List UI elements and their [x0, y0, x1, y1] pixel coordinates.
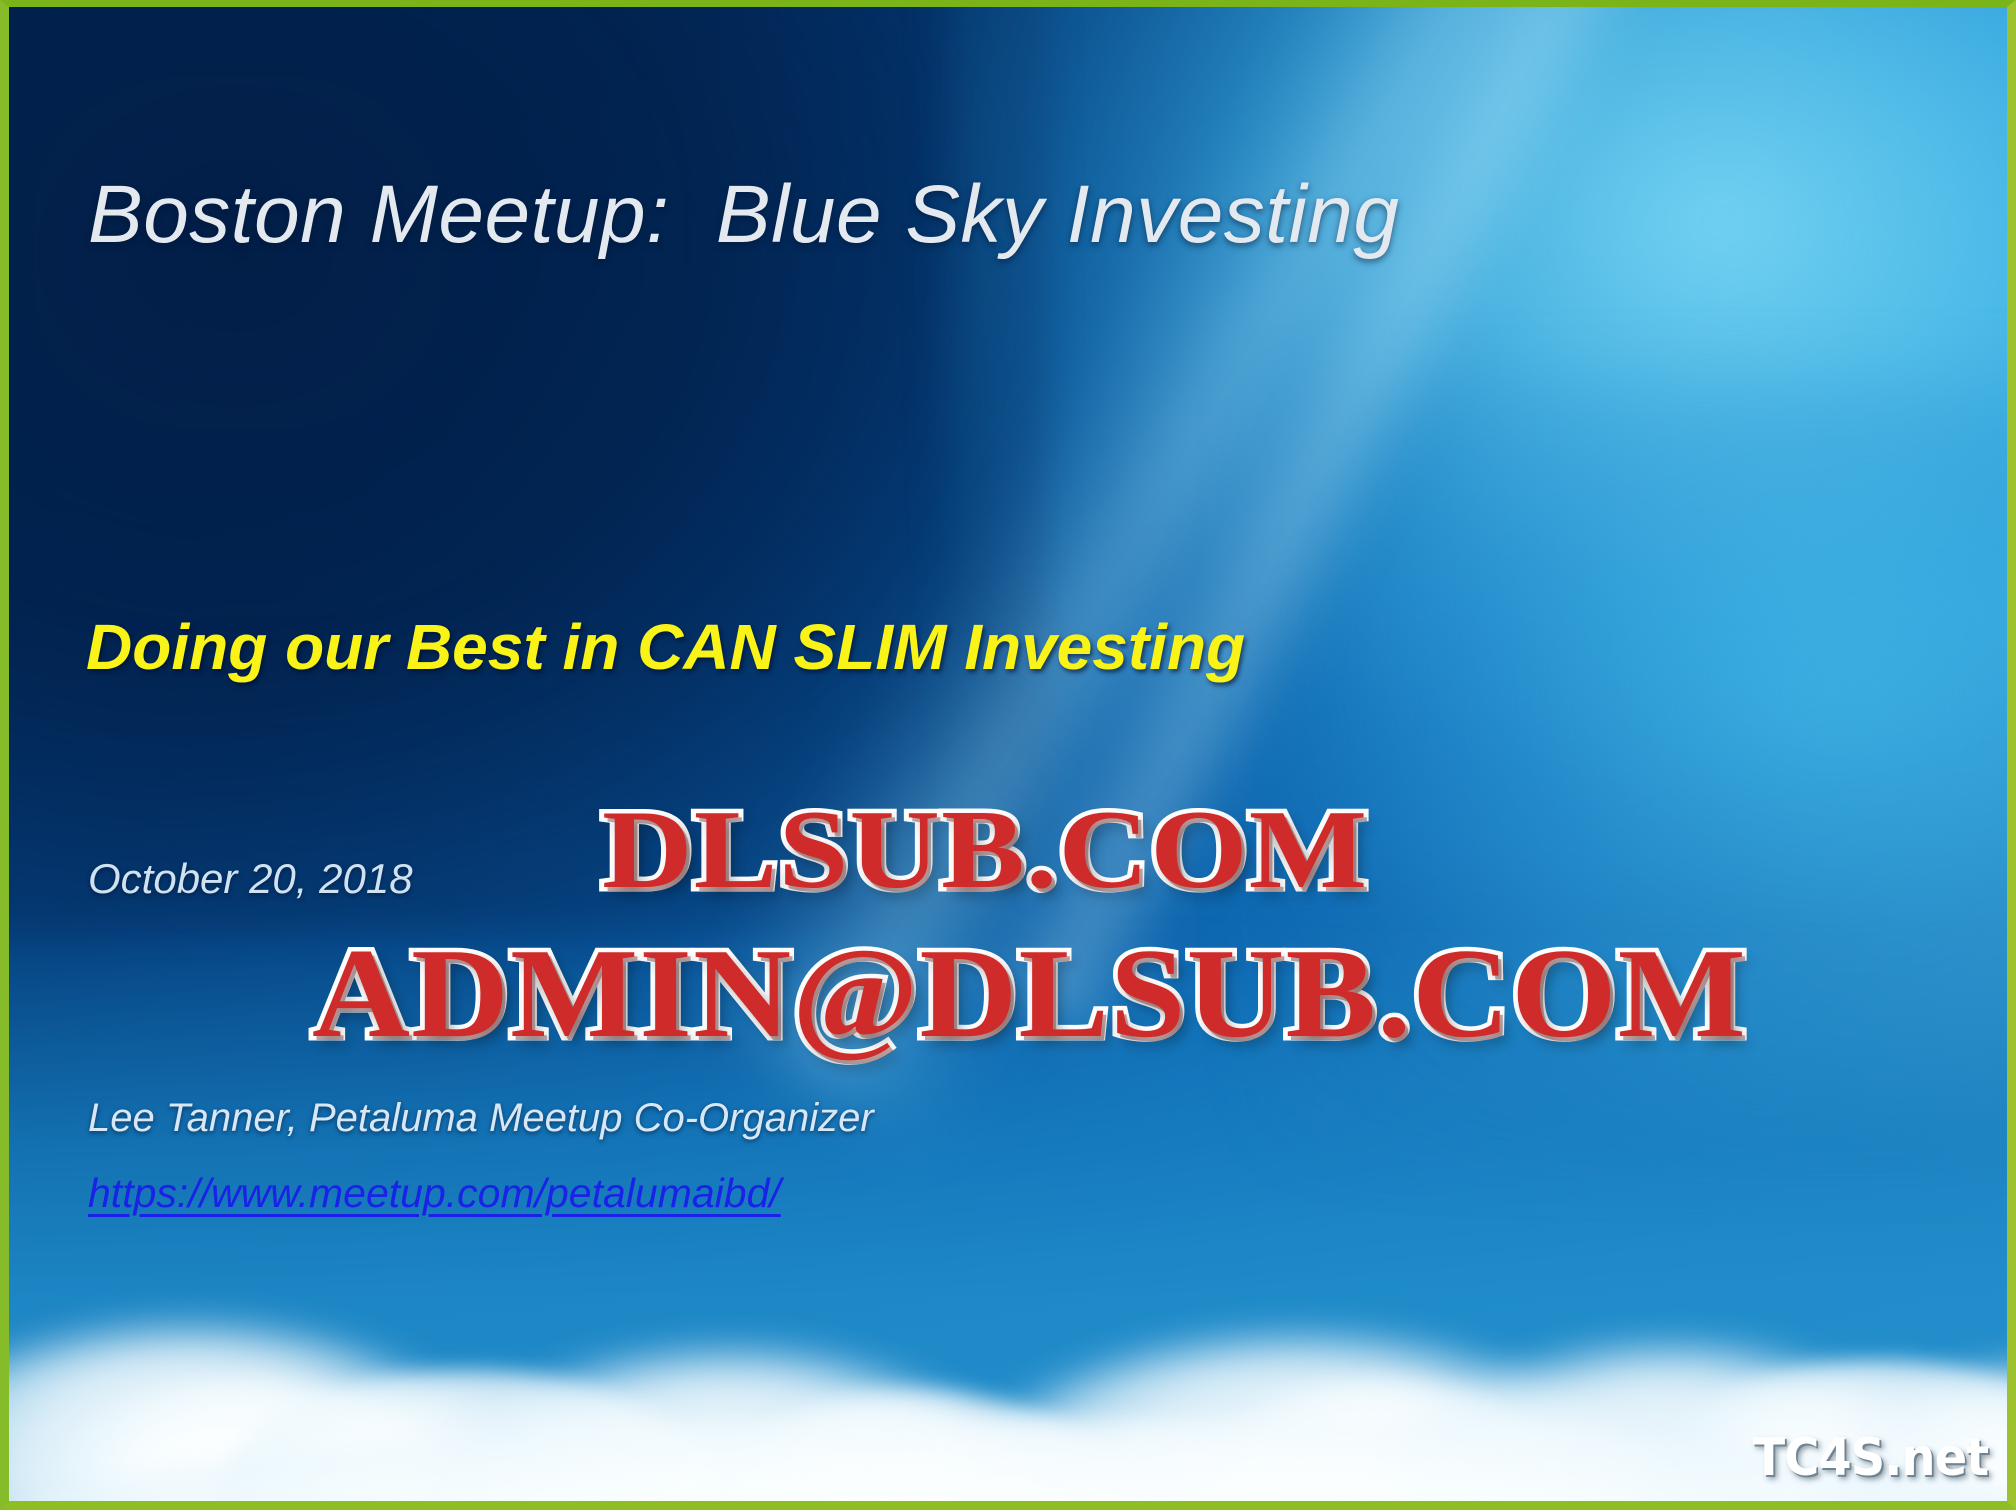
slide-date: October 20, 2018 [88, 855, 413, 903]
slide-title: Boston Meetup: Blue Sky Investing [88, 168, 1400, 262]
meetup-url-link[interactable]: https://www.meetup.com/petalumaibd/ [88, 1170, 781, 1217]
tc4s-logo: TC4S.net [1752, 1428, 1988, 1488]
watermark-contact-email: ADMIN@DLSUB.COM [312, 920, 1747, 1067]
slide-subtitle: Doing our Best in CAN SLIM Investing [86, 610, 1245, 684]
watermark-site-domain: DLSUB.COM [602, 786, 1368, 915]
cloud-band [0, 1180, 2016, 1510]
presenter-credit: Lee Tanner, Petaluma Meetup Co-Organizer [88, 1096, 874, 1141]
presentation-slide: Boston Meetup: Blue Sky Investing Doing … [0, 0, 2016, 1510]
